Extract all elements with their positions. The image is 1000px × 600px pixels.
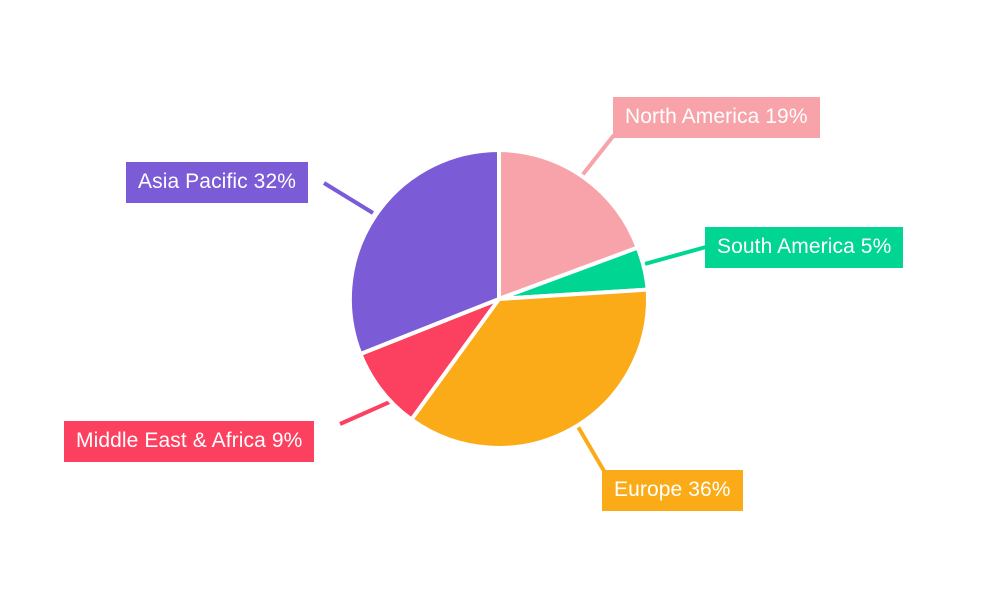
pie-chart: North America 19% South America 5% Europ… (0, 0, 1000, 600)
leader-line-asia-pacific (324, 183, 373, 213)
slice-label-south-america[interactable]: South America 5% (705, 227, 903, 268)
slice-label-europe[interactable]: Europe 36% (602, 470, 743, 511)
pie-chart-canvas (0, 0, 1000, 600)
leader-line-europe (577, 425, 604, 471)
slice-label-asia-pacific[interactable]: Asia Pacific 32% (126, 162, 308, 203)
pie-slices (350, 150, 648, 448)
slice-label-north-america[interactable]: North America 19% (613, 97, 820, 138)
slice-label-middle-east-africa[interactable]: Middle East & Africa 9% (64, 421, 314, 462)
leader-line-south-america (641, 247, 706, 265)
